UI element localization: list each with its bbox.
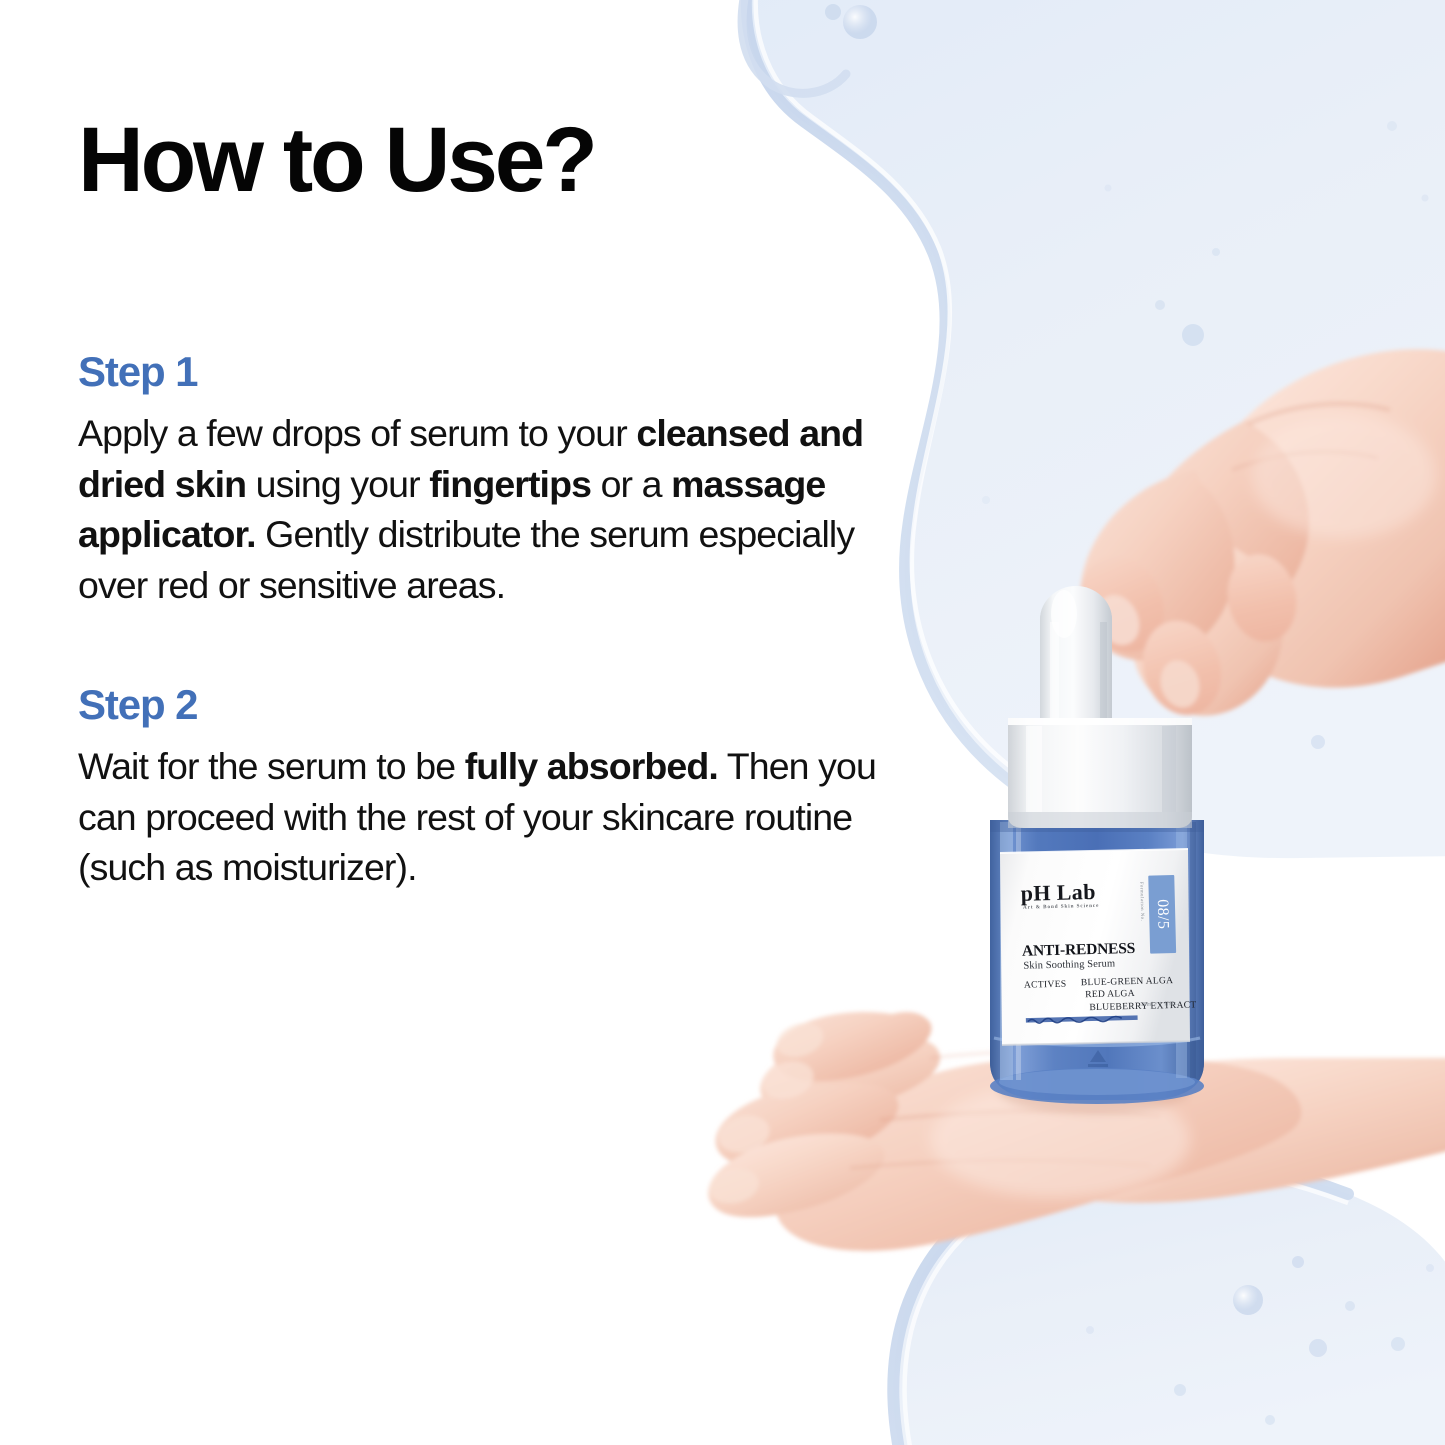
label-badge-side-text: Formulation No. — [1139, 882, 1145, 922]
upper-hand — [1065, 349, 1445, 725]
emphasis-text: fully absorbed. — [465, 745, 718, 787]
body-text: Wait for the serum to be — [78, 745, 465, 787]
dropper-cap — [1008, 586, 1192, 828]
label-product-subtitle: Skin Soothing Serum — [1023, 958, 1115, 971]
label-product-name: ANTI-REDNESS — [1022, 940, 1135, 961]
step-1-body: Apply a few drops of serum to your clean… — [78, 408, 928, 611]
step-1-title: Step 1 — [78, 350, 928, 394]
label-actives-heading: ACTIVES — [1024, 979, 1067, 991]
label-brand-tagline: Art & Bond Skin Science — [1023, 903, 1099, 911]
label-actives-list: BLUE-GREEN ALGA RED ALGA BLUEBERRY EXTRA… — [1081, 974, 1197, 1014]
label-badge-number: 08/5 — [1148, 875, 1176, 954]
step-2-title: Step 2 — [78, 683, 928, 727]
body-text: or a — [591, 463, 671, 505]
body-text: using your — [246, 463, 429, 505]
body-text: Apply a few drops of serum to your — [78, 412, 636, 454]
bottle-label-text: 08/5 Formulation No. pH Lab Art & Bond S… — [998, 851, 1189, 1045]
page-title: How to Use? — [78, 114, 595, 206]
step-1-block: Step 1 Apply a few drops of serum to you… — [78, 350, 928, 611]
step-2-body: Wait for the serum to be fully absorbed.… — [78, 741, 928, 893]
active-item: BLUEBERRY EXTRACT — [1081, 999, 1196, 1014]
step-2-block: Step 2 Wait for the serum to be fully ab… — [78, 683, 928, 893]
lower-hand — [706, 1012, 1445, 1251]
label-signature-mark — [1026, 1013, 1138, 1025]
how-to-use-banner: 08/5 Formulation No. pH Lab Art & Bond S… — [0, 0, 1445, 1445]
emphasis-text: fingertips — [429, 463, 591, 505]
label-volume: 30ml / 1 fl.oz. — [1140, 1001, 1178, 1008]
